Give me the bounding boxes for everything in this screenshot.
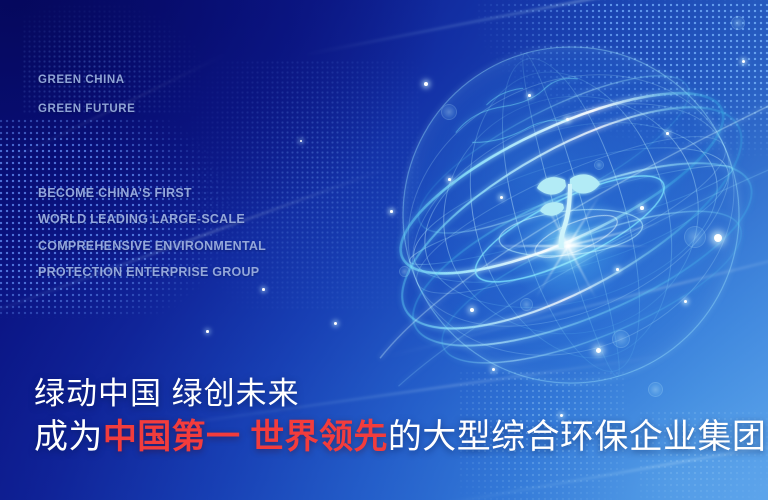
eyebrow-line-1: GREEN CHINA [38, 74, 125, 86]
world-map-dot-pattern-top-left [22, 0, 202, 114]
headline-segment-plain-end: 的大型综合环保企业集团 [388, 418, 766, 456]
headline-highlight-first: 中国第一 [103, 418, 241, 456]
eyebrow-line-2: GREEN FUTURE [38, 103, 135, 115]
subheading-line-3: COMPREHENSIVE ENVIRONMENTAL [38, 239, 266, 253]
headline-line-2: 成为中国第一 世界领先的大型综合环保企业集团 [34, 409, 766, 458]
hero-banner: GREEN CHINA GREEN FUTURE BECOME CHINA'S … [0, 0, 768, 500]
headline-segment-plain-start: 成为 [34, 418, 103, 456]
subheading-line-1: BECOME CHINA'S FIRST [38, 186, 192, 200]
headline-line-1: 绿动中国 绿创未来 [34, 368, 300, 413]
subheading-line-4: PROTECTION ENTERPRISE GROUP [38, 265, 259, 279]
headline-highlight-second: 世界领先 [250, 418, 388, 456]
subheading-line-2: WORLD LEADING LARGE-SCALE [38, 212, 245, 226]
headline-segment-space [240, 418, 250, 456]
